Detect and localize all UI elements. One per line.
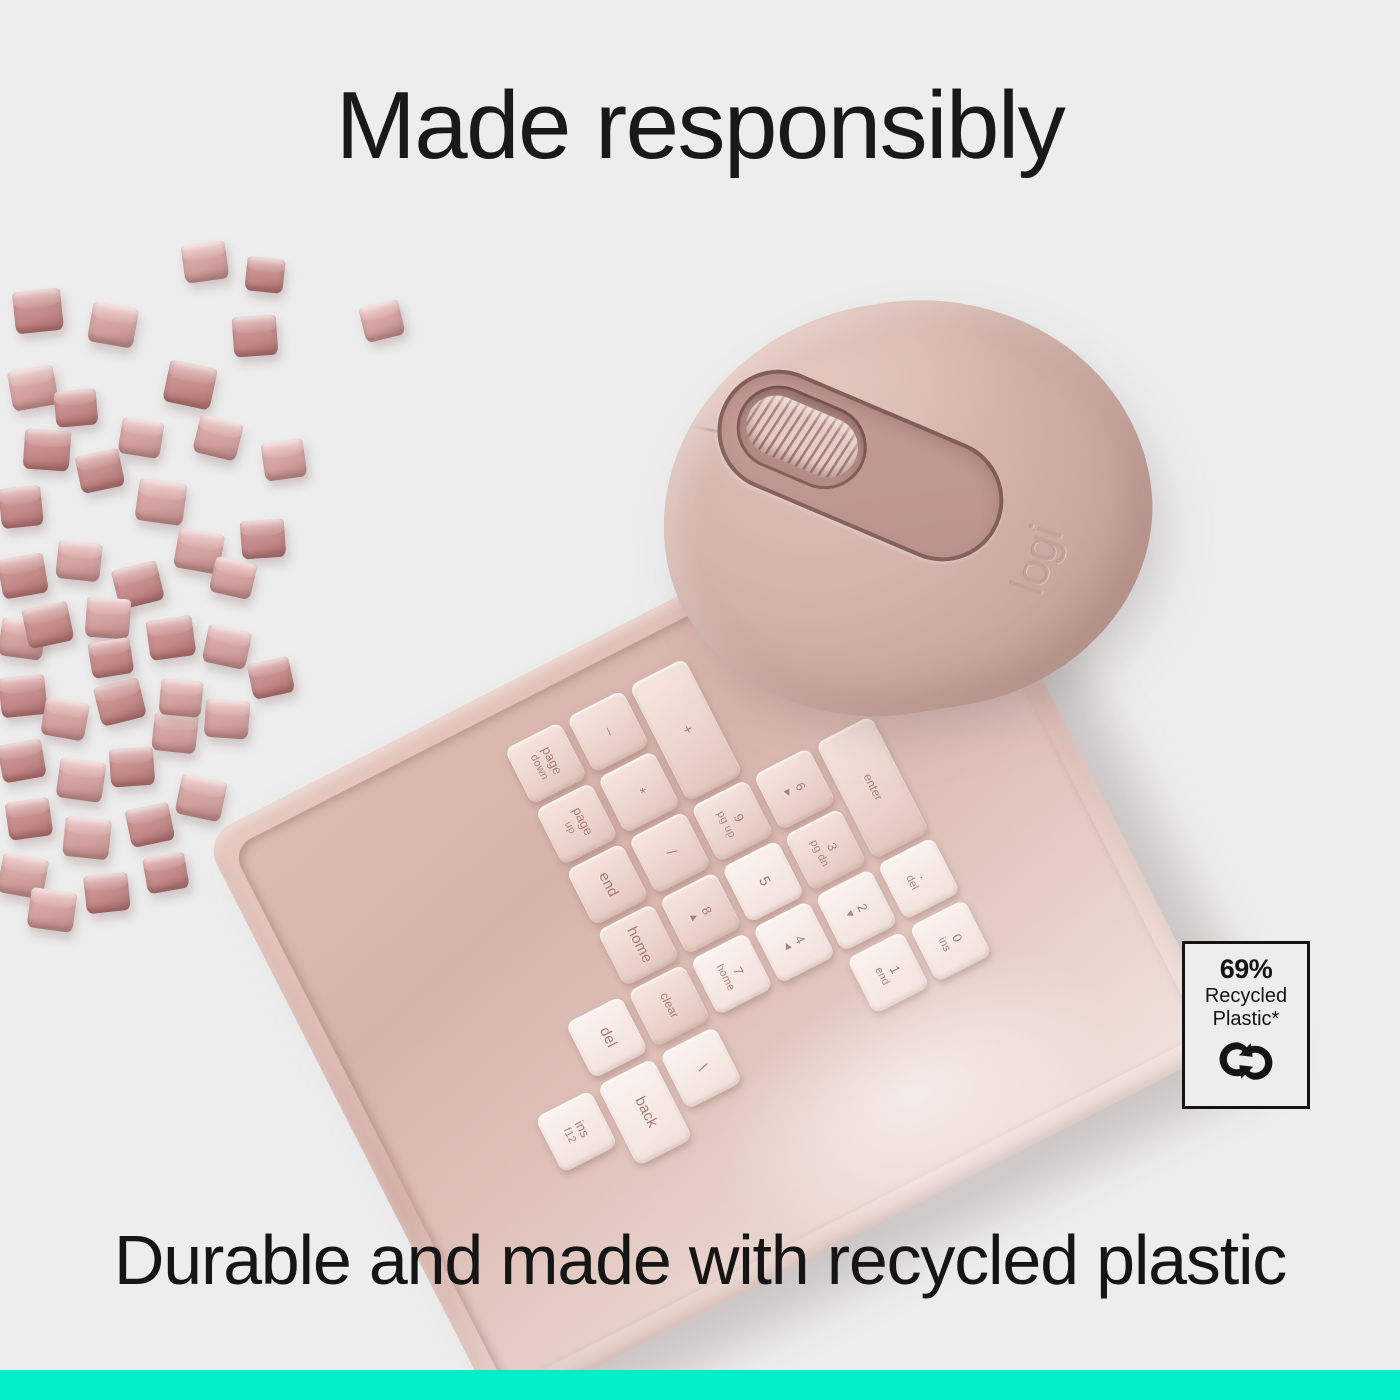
plastic-pellet: [23, 428, 72, 471]
brand-bar: [0, 1370, 1400, 1400]
key-label: home: [622, 924, 654, 966]
plastic-pellet: [75, 448, 126, 494]
plastic-pellet: [62, 816, 112, 861]
plastic-pellet: [87, 637, 134, 679]
plastic-pellet: [125, 802, 176, 848]
plastic-pellet: [240, 519, 287, 560]
key-sublabel: pg dn: [807, 838, 831, 869]
plastic-pellet: [93, 677, 147, 727]
key-label: –: [599, 724, 618, 739]
plastic-pellet: [40, 696, 90, 741]
scroll-wheel-recess: [724, 373, 880, 503]
scroll-wheel: [737, 386, 867, 487]
plastic-pellet: [12, 288, 64, 335]
key-label: 8▲: [686, 902, 715, 924]
plastic-pellet: [208, 556, 257, 601]
key-label: enter: [860, 772, 885, 803]
plastic-pellet: [0, 552, 49, 599]
plastic-pellet: [174, 774, 227, 823]
key-sublabel: end: [872, 965, 892, 987]
key-sublabel: ►: [780, 785, 796, 800]
logi-logo: logi: [999, 518, 1074, 601]
key-label: del: [595, 1024, 619, 1050]
plastic-pellet: [358, 299, 406, 344]
scroll-wheel-well: [698, 351, 1022, 581]
plastic-pellet: [109, 747, 156, 788]
plastic-pellet: [244, 256, 285, 294]
badge-percent: 69%: [1220, 955, 1273, 983]
key-label: back: [630, 1094, 660, 1131]
key-label: pagedown: [527, 744, 564, 783]
key-label: 1end: [872, 958, 905, 987]
key-label: *: [630, 786, 648, 799]
key-sublabel: ▼: [842, 906, 858, 921]
plastic-pellet: [192, 414, 244, 462]
badge-line-plastic: Plastic*: [1213, 1008, 1280, 1031]
key-label: /: [661, 847, 678, 859]
plastic-pellet: [117, 417, 164, 459]
key-label: insf12: [561, 1118, 593, 1146]
plastic-pellet: [21, 601, 74, 650]
plastic-pellet: [0, 674, 48, 719]
recycling-loop-icon: [1215, 1038, 1277, 1089]
plastic-pellet: [204, 699, 251, 740]
key-label: 7home: [713, 955, 750, 992]
plastic-pellet: [261, 438, 308, 481]
key-sublabel: pg up: [714, 809, 738, 840]
plastic-pellet: [151, 712, 199, 754]
headline-made-responsibly: Made responsibly: [0, 78, 1400, 174]
key-sublabel: del: [903, 872, 921, 891]
badge-line-recycled: Recycled: [1205, 985, 1287, 1008]
key-label: clear: [657, 991, 681, 1021]
plastic-pellet: [83, 872, 131, 914]
key-label: 9pg up: [714, 802, 751, 840]
key-label: end: [594, 869, 621, 899]
mouse-body: logi: [632, 266, 1180, 748]
key-label: 6►: [780, 778, 809, 800]
key-sublabel: ▲: [686, 909, 702, 924]
key-sublabel: up: [558, 811, 582, 843]
recycled-plastic-badge: 69% Recycled Plastic*: [1182, 941, 1310, 1109]
plastic-pellet: [232, 315, 279, 358]
key-label: pageup: [558, 805, 595, 844]
wireless-mouse: logi: [632, 263, 1205, 770]
plastic-pellet: [0, 738, 47, 783]
plastic-pellet: [55, 757, 106, 803]
key-label: 0ins: [935, 928, 966, 953]
plastic-pellet: [159, 678, 204, 718]
key-label: 4◄: [780, 931, 809, 953]
plastic-pellet: [162, 359, 218, 410]
key-label: .del: [903, 866, 934, 892]
plastic-pellet: [145, 615, 196, 661]
key-sublabel: home: [713, 962, 737, 993]
key-sublabel: ◄: [780, 938, 796, 953]
key-sublabel: down: [527, 751, 551, 783]
key-label: \: [693, 1062, 710, 1074]
plastic-pellet: [7, 364, 59, 411]
plastic-pellet: [26, 887, 77, 933]
plastic-pellet: [202, 624, 253, 670]
plastic-pellet: [142, 852, 190, 895]
plastic-pellet: [247, 656, 296, 700]
plastic-pellet: [5, 797, 54, 841]
key-label: 2▼: [842, 899, 871, 921]
plastic-pellet: [87, 301, 139, 348]
plastic-pellet: [85, 597, 132, 640]
plastic-pellet: [0, 485, 44, 529]
caption-durable-recycled-plastic: Durable and made with recycled plastic: [0, 1225, 1400, 1295]
plastic-pellet: [134, 478, 187, 526]
plastic-pellet: [181, 240, 230, 284]
plastic-pellet: [54, 388, 99, 428]
key-sublabel: f12: [561, 1124, 580, 1145]
product-marketing-image: pagedownpageupendhomeclear–*/8▲7home+9pg…: [0, 0, 1400, 1400]
key-label: 3pg dn: [807, 831, 844, 869]
key-label: 5: [754, 874, 773, 889]
key-sublabel: ins: [935, 935, 953, 954]
plastic-pellet: [55, 540, 103, 582]
